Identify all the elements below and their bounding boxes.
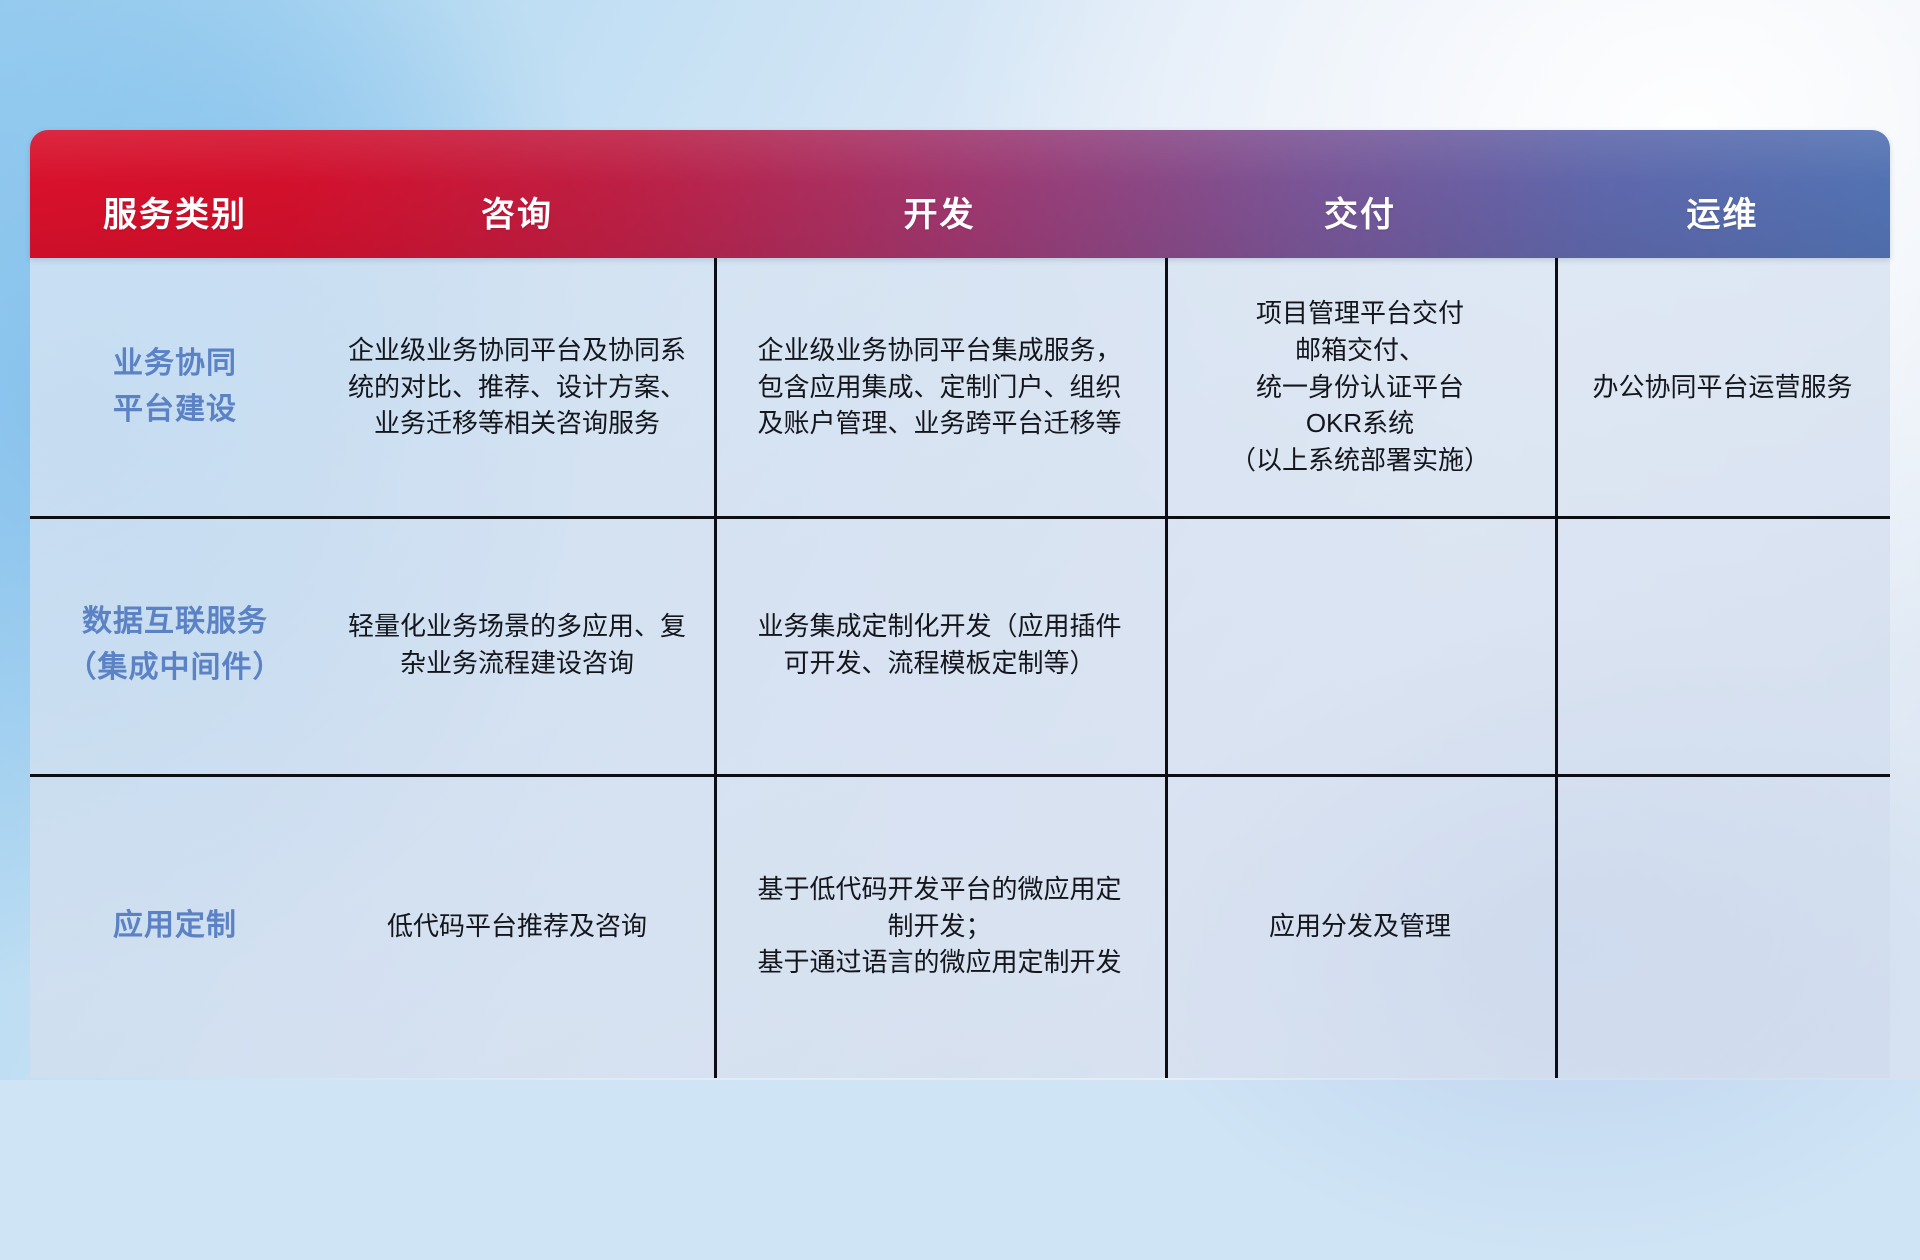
cell-r1-development: 企业级业务协同平台集成服务， 包含应用集成、定制门户、组织 及账户管理、业务跨平…	[714, 258, 1165, 516]
row-label-data-interconnect: 数据互联服务 （集成中间件）	[30, 516, 320, 774]
cell-r3-delivery: 应用分发及管理	[1165, 774, 1555, 1078]
service-matrix-table: 服务类别 咨询 开发 交付 运维 业务协同 平台建设 企业级业务协同平台及协同系…	[30, 130, 1890, 1078]
column-header-category: 服务类别	[30, 130, 320, 258]
table-row: 应用定制 低代码平台推荐及咨询 基于低代码开发平台的微应用定 制开发； 基于通过…	[30, 774, 1890, 1078]
cell-r1-delivery: 项目管理平台交付 邮箱交付、 统一身份认证平台 OKR系统 （以上系统部署实施）	[1165, 258, 1555, 516]
cell-r3-development: 基于低代码开发平台的微应用定 制开发； 基于通过语言的微应用定制开发	[714, 774, 1165, 1078]
column-header-delivery: 交付	[1165, 130, 1555, 258]
column-header-operations: 运维	[1555, 130, 1890, 258]
cell-r1-operations: 办公协同平台运营服务	[1555, 258, 1890, 516]
cell-r2-consulting: 轻量化业务场景的多应用、复 杂业务流程建设咨询	[320, 516, 714, 774]
column-header-consulting: 咨询	[320, 130, 714, 258]
cell-r3-operations	[1555, 774, 1890, 1078]
column-divider-3	[1555, 258, 1558, 1078]
cell-r1-consulting: 企业级业务协同平台及协同系 统的对比、推荐、设计方案、 业务迁移等相关咨询服务	[320, 258, 714, 516]
table-row: 业务协同 平台建设 企业级业务协同平台及协同系 统的对比、推荐、设计方案、 业务…	[30, 258, 1890, 516]
table-row: 数据互联服务 （集成中间件） 轻量化业务场景的多应用、复 杂业务流程建设咨询 业…	[30, 516, 1890, 774]
table-header-row: 服务类别 咨询 开发 交付 运维	[30, 130, 1890, 258]
column-divider-1	[714, 258, 717, 1078]
cell-r2-development: 业务集成定制化开发（应用插件 可开发、流程模板定制等）	[714, 516, 1165, 774]
row-label-business-collaboration: 业务协同 平台建设	[30, 258, 320, 516]
table-body: 业务协同 平台建设 企业级业务协同平台及协同系 统的对比、推荐、设计方案、 业务…	[30, 258, 1890, 1078]
column-header-development: 开发	[714, 130, 1165, 258]
cell-r3-consulting: 低代码平台推荐及咨询	[320, 774, 714, 1078]
cell-r2-operations	[1555, 516, 1890, 774]
cell-r2-delivery	[1165, 516, 1555, 774]
column-divider-2	[1165, 258, 1168, 1078]
row-label-app-customization: 应用定制	[30, 774, 320, 1078]
